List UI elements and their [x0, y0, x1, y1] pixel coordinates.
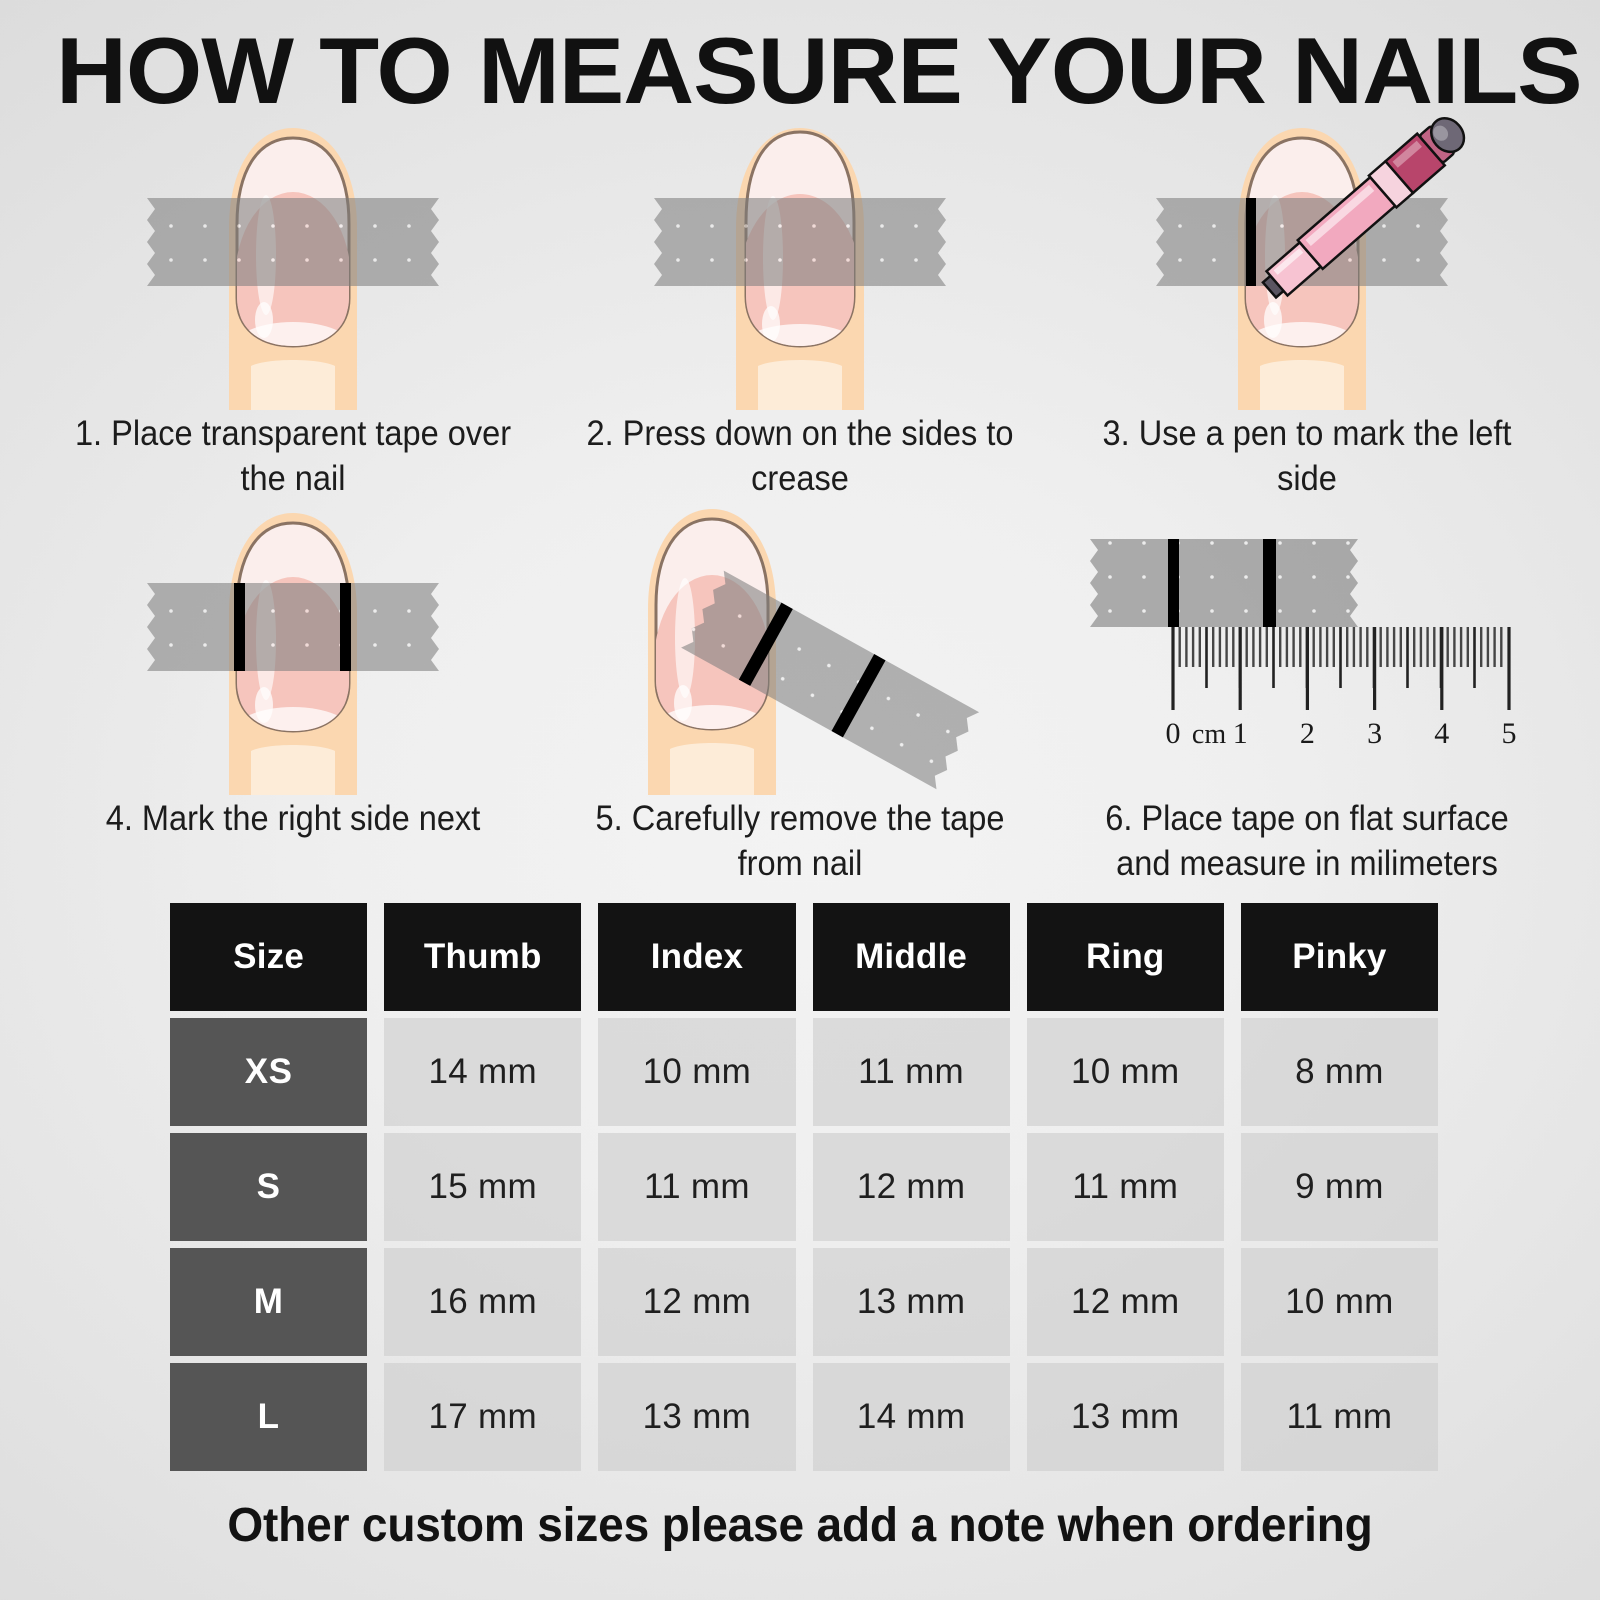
step-caption: 2. Press down on the sides to crease	[577, 412, 1023, 502]
table-cell: 17 mm	[384, 1363, 581, 1471]
flat-tape	[1090, 539, 1358, 627]
footer-note: Other custom sizes please add a note whe…	[32, 1498, 1568, 1553]
column-header-index: Index	[598, 903, 795, 1011]
svg-text:cm: cm	[1192, 719, 1226, 750]
step-caption: 5. Carefully remove the tape from nail	[577, 797, 1023, 887]
step-4: 4. Mark the right side next	[40, 505, 547, 890]
table-cell: 10 mm	[1027, 1018, 1224, 1126]
column-header-ring: Ring	[1027, 903, 1224, 1011]
svg-text:0: 0	[1165, 717, 1180, 750]
table-cell: 11 mm	[1027, 1133, 1224, 1241]
step-caption: 4. Mark the right side next	[70, 797, 516, 842]
table-row-size: M	[170, 1248, 367, 1356]
table-cell: 14 mm	[384, 1018, 581, 1126]
step-caption: 1. Place transparent tape over the nail	[70, 412, 516, 502]
tape-peeling-icon	[547, 505, 1054, 795]
step-caption: 3. Use a pen to mark the left side	[1083, 412, 1529, 502]
svg-text:5: 5	[1501, 717, 1516, 750]
svg-text:3: 3	[1367, 717, 1382, 750]
tape-mark-left	[1168, 539, 1179, 627]
table-cell: 11 mm	[598, 1133, 795, 1241]
column-header-size: Size	[170, 903, 367, 1011]
right-mark	[340, 583, 351, 671]
tape-mark-right	[1263, 539, 1276, 627]
step-5: 5. Carefully remove the tape from nail	[547, 505, 1054, 890]
steps-grid: 1. Place transparent tape over the nail	[40, 120, 1560, 890]
ruler-ticks	[1173, 627, 1509, 710]
table-cell: 10 mm	[1241, 1248, 1438, 1356]
column-header-thumb: Thumb	[384, 903, 581, 1011]
table-cell: 9 mm	[1241, 1133, 1438, 1241]
table-cell: 8 mm	[1241, 1018, 1438, 1126]
table-cell: 12 mm	[598, 1248, 795, 1356]
ruler-labels: 0 cm 1 2 3 4 5	[1165, 717, 1516, 750]
tape-two-marks-icon	[40, 505, 547, 795]
table-cell: 11 mm	[813, 1018, 1010, 1126]
finger-creased-tape-icon	[547, 120, 1054, 410]
table-cell: 11 mm	[1241, 1363, 1438, 1471]
left-mark	[234, 583, 245, 671]
step-3: 3. Use a pen to mark the left side	[1053, 120, 1560, 505]
table-row-size: S	[170, 1133, 367, 1241]
table-cell: 15 mm	[384, 1133, 581, 1241]
step-caption: 6. Place tape on flat surface and measur…	[1083, 797, 1529, 887]
table-cell: 12 mm	[813, 1133, 1010, 1241]
svg-text:4: 4	[1434, 717, 1449, 750]
table-row-size: L	[170, 1363, 367, 1471]
ruler-measure-icon: 0 cm 1 2 3 4 5	[1053, 505, 1560, 795]
svg-text:2: 2	[1300, 717, 1315, 750]
finger-with-tape-icon	[40, 120, 547, 410]
svg-text:1: 1	[1232, 717, 1247, 750]
table-row-size: XS	[170, 1018, 367, 1126]
pen-marking-left-icon	[1053, 120, 1560, 410]
table-cell: 13 mm	[598, 1363, 795, 1471]
step-6: 0 cm 1 2 3 4 5 6. Place tape on flat sur…	[1053, 505, 1560, 890]
table-cell: 14 mm	[813, 1363, 1010, 1471]
table-cell: 13 mm	[813, 1248, 1010, 1356]
table-cell: 10 mm	[598, 1018, 795, 1126]
table-cell: 13 mm	[1027, 1363, 1224, 1471]
table-cell: 16 mm	[384, 1248, 581, 1356]
step-1: 1. Place transparent tape over the nail	[40, 120, 547, 505]
size-chart-table: Size Thumb Index Middle Ring Pinky XS 14…	[170, 903, 1438, 1471]
table-cell: 12 mm	[1027, 1248, 1224, 1356]
page-title: HOW TO MEASURE YOUR NAILS	[56, 22, 1600, 121]
step-2: 2. Press down on the sides to crease	[547, 120, 1054, 505]
column-header-middle: Middle	[813, 903, 1010, 1011]
column-header-pinky: Pinky	[1241, 903, 1438, 1011]
